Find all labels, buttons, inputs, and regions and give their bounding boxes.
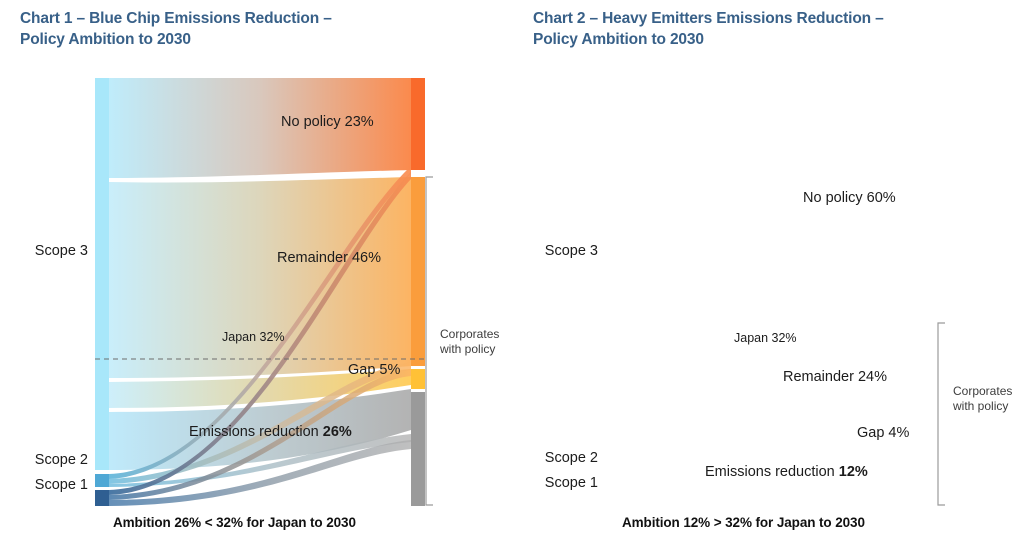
node-scope-1 [95,490,109,506]
scope-1-label: Scope 1 [10,477,88,493]
japan-benchmark-label: Japan 32% [734,331,797,345]
chart-1-panel: Chart 1 – Blue Chip Emissions Reduction … [0,0,512,548]
no-policy-label: No policy 23% [281,114,374,130]
scope-3-label: Scope 3 [10,243,88,259]
chart-2-policy-bracket [936,322,950,506]
emissions-reduction-label: Emissions reduction 26% [189,424,352,440]
chart-1-sankey [95,78,425,506]
node-remainder [411,177,425,366]
node-no-policy [411,78,425,170]
scope-2-label: Scope 2 [10,452,88,468]
corporates-with-policy-label: Corporates with policy [440,327,499,357]
scope-2-label: Scope 2 [520,450,598,466]
node-emissions-reduction [411,392,425,506]
chart-2-title: Chart 2 – Heavy Emitters Emissions Reduc… [533,8,884,50]
chart-1-title: Chart 1 – Blue Chip Emissions Reduction … [20,8,332,50]
sankey-charts-page: Chart 1 – Blue Chip Emissions Reduction … [0,0,1024,548]
scope-3-label: Scope 3 [520,243,598,259]
remainder-label: Remainder 46% [277,250,381,266]
scope-1-label: Scope 1 [520,475,598,491]
chart-2-panel: Chart 2 – Heavy Emitters Emissions Reduc… [512,0,1024,548]
emissions-reduction-text: Emissions reduction 12% [705,464,868,480]
flow-scope3-remainder [109,177,411,378]
gap-label: Gap 4% [857,425,909,441]
japan-benchmark-label: Japan 32% [222,330,285,344]
chart-1-caption: Ambition 26% < 32% for Japan to 2030 [113,515,356,530]
node-gap [411,369,425,389]
chart-1-policy-bracket [424,176,438,506]
chart-1-sankey-svg [95,78,425,506]
no-policy-label: No policy 60% [803,190,896,206]
chart-2-caption: Ambition 12% > 32% for Japan to 2030 [622,515,865,530]
emissions-reduction-label: Emissions reduction 12% [705,464,868,480]
emissions-reduction-text: Emissions reduction 26% [189,424,352,440]
node-scope-2 [95,474,109,487]
node-scope-3 [95,78,109,470]
remainder-label: Remainder 24% [783,369,887,385]
gap-label: Gap 5% [348,362,400,378]
corporates-with-policy-label: Corporates with policy [953,384,1012,414]
